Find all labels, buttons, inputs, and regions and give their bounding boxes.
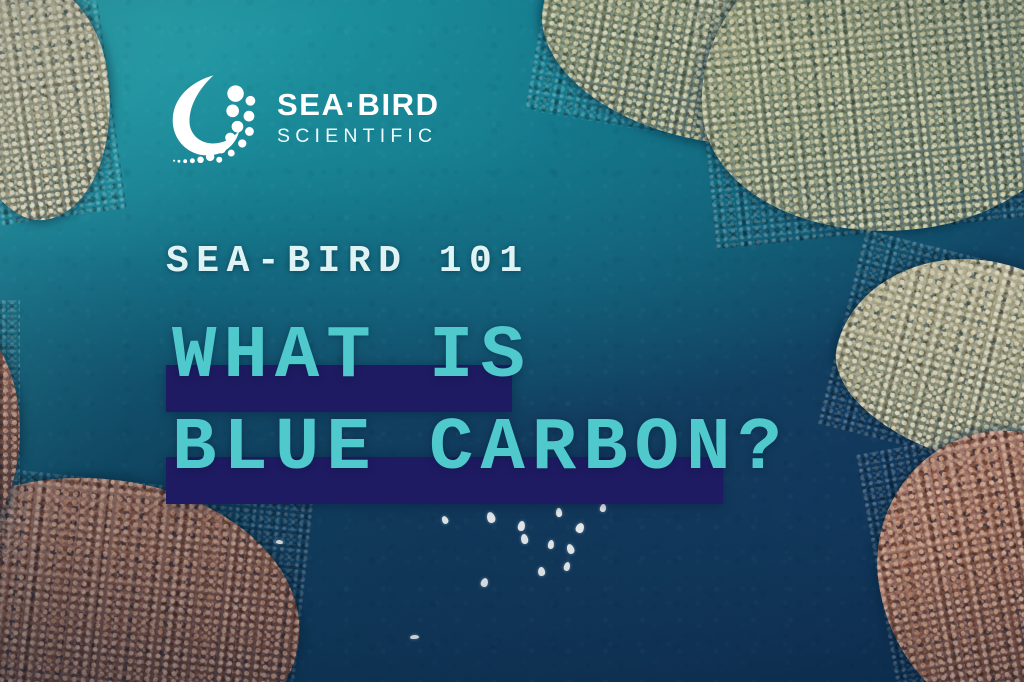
logo-primary-text: SEA·BIRD: [277, 89, 440, 120]
logo-secondary-text: SCIENTIFIC: [277, 127, 440, 147]
sea-bird-scientific-logo: SEA·BIRD SCIENTIFIC: [165, 72, 440, 166]
headline-text-2: BLUE CARBON?: [172, 412, 789, 486]
logo-wordmark: SEA·BIRD SCIENTIFIC: [277, 89, 440, 149]
headline-text-1: WHAT IS: [172, 320, 532, 394]
poster-canvas: SEA·BIRD SCIENTIFIC SEA-BIRD 101 WHAT IS…: [0, 0, 1024, 682]
droplet-spiral-icon: [165, 72, 261, 166]
series-eyebrow-label: SEA-BIRD 101: [166, 240, 530, 283]
